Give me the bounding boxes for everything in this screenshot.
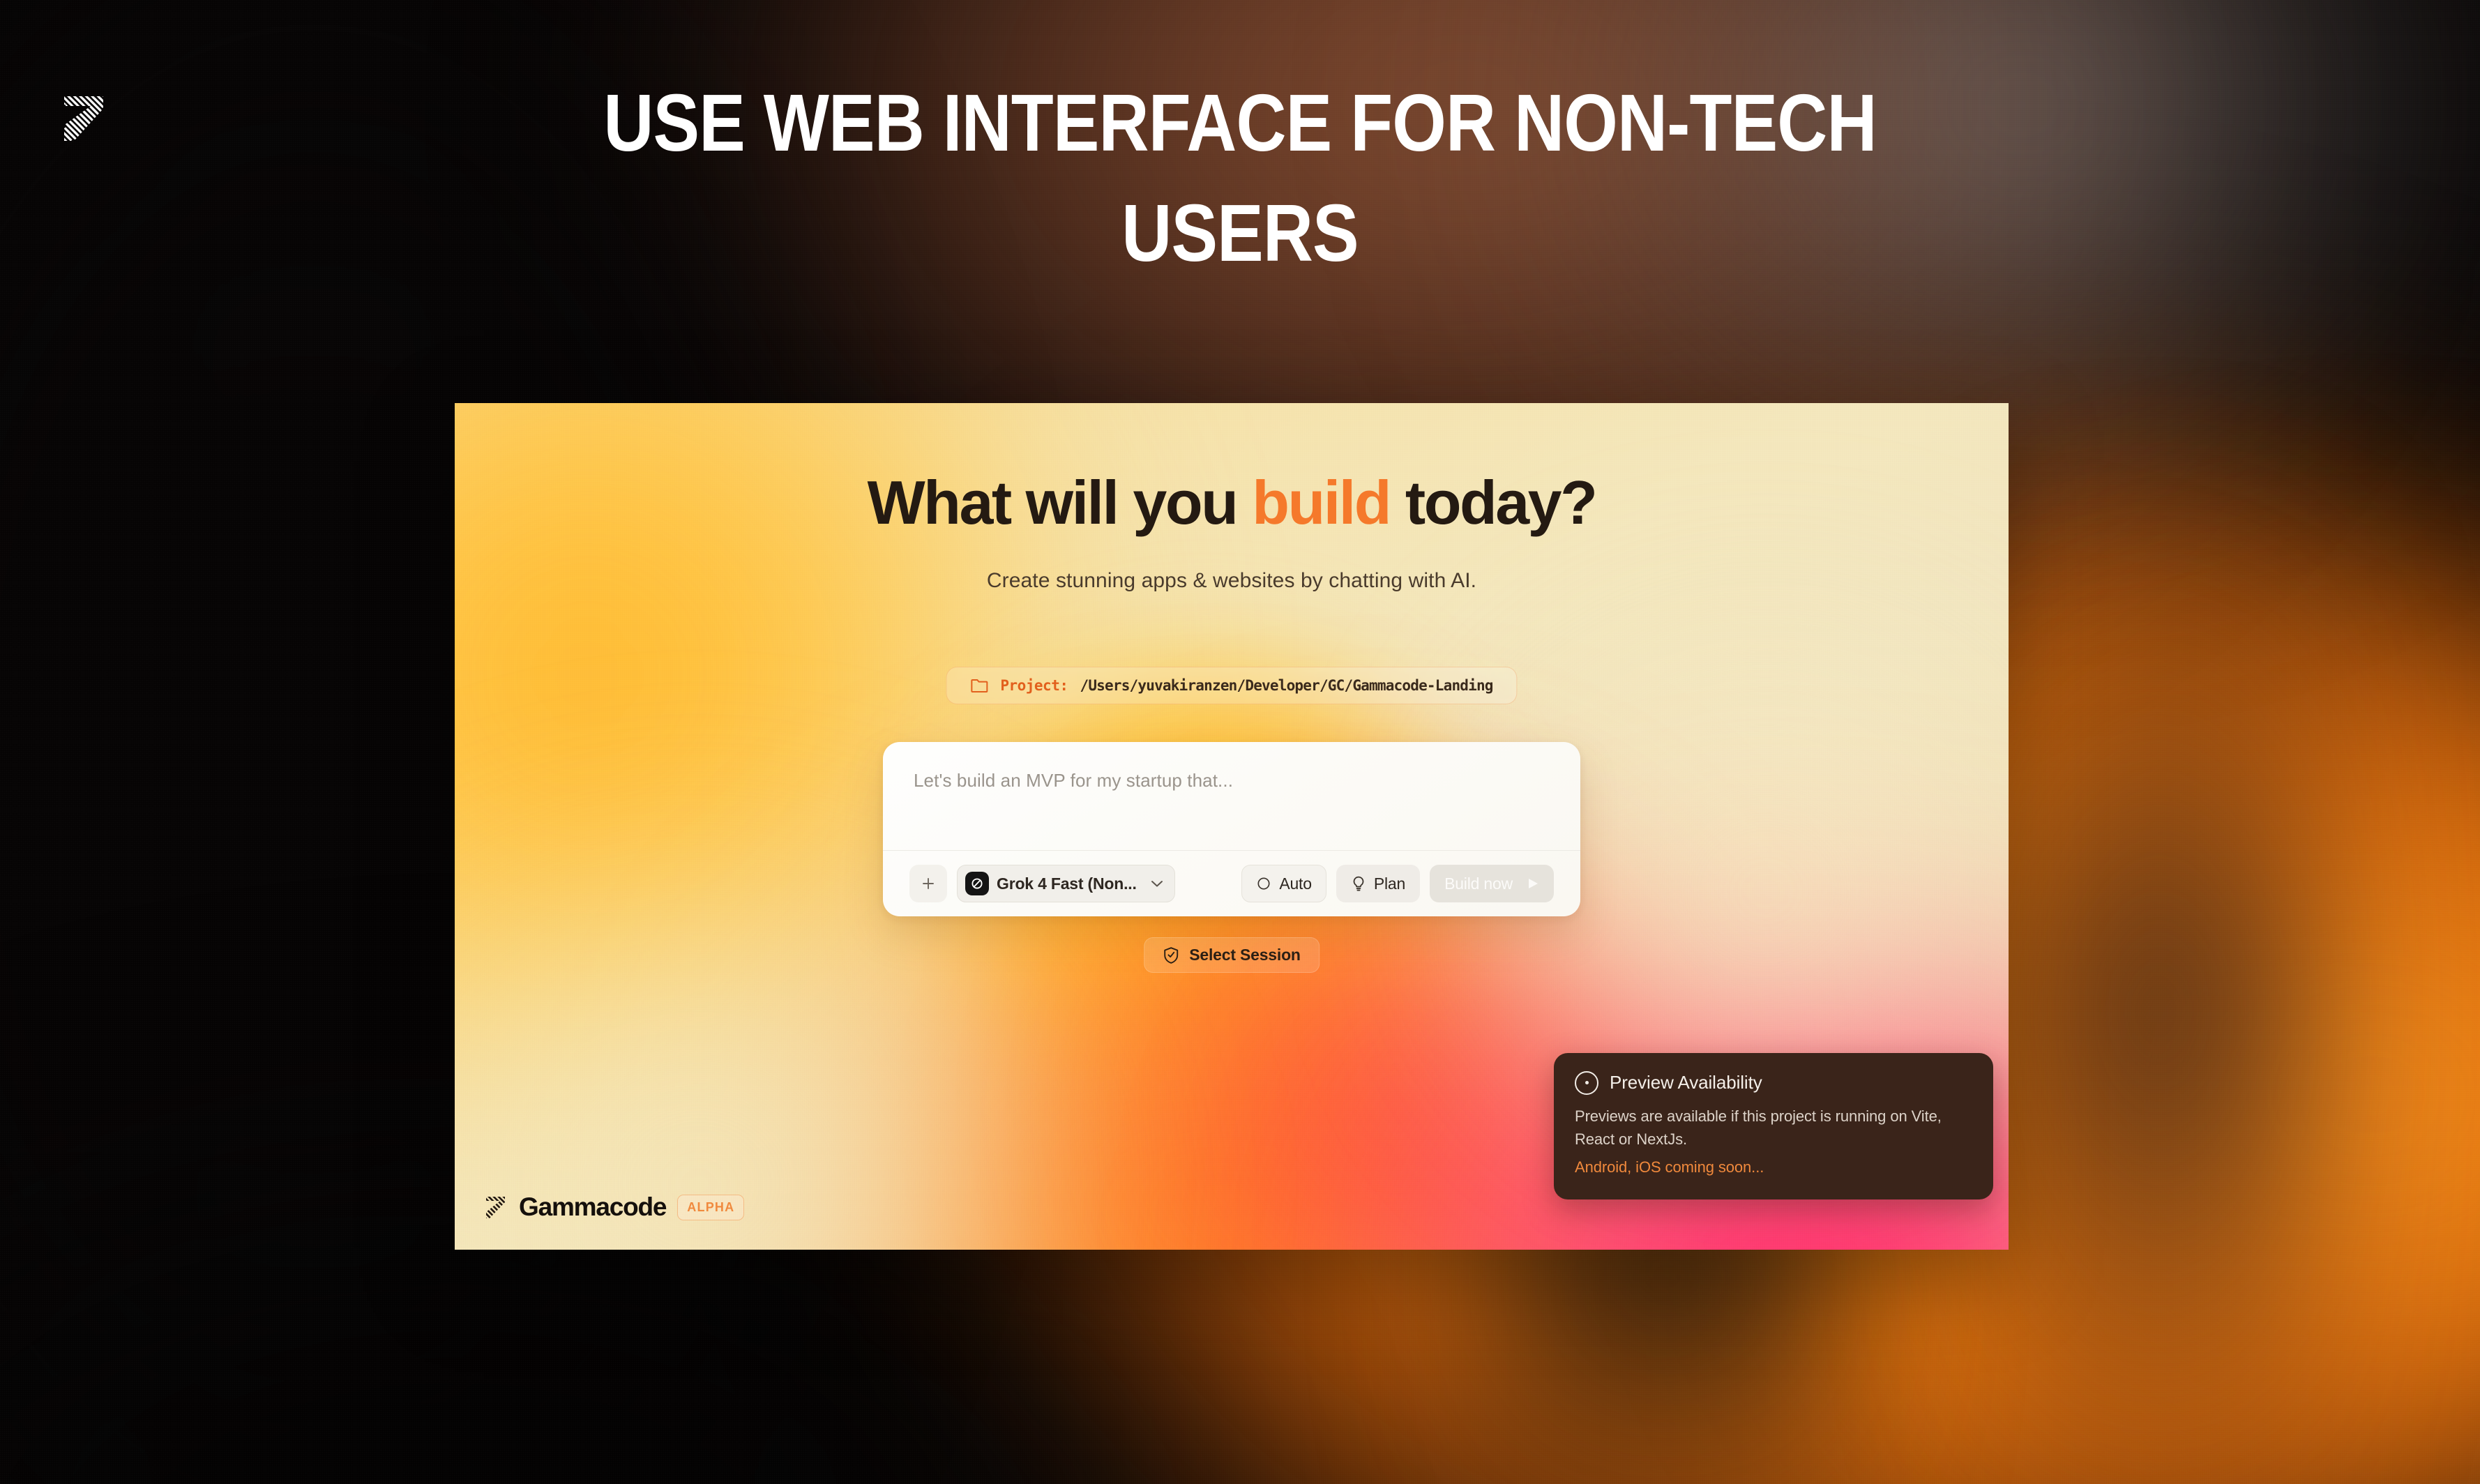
app-content: What will you build today? Create stunni… bbox=[455, 403, 2009, 1250]
model-name-label: Grok 4 Fast (Non... bbox=[997, 874, 1137, 893]
app-footer-brand-name: Gammacode bbox=[519, 1192, 666, 1222]
app-footer-brand: Gammacode ALPHA bbox=[484, 1192, 744, 1222]
preview-availability-toast: Preview Availability Previews are availa… bbox=[1554, 1053, 1993, 1199]
composer-toolbar: Grok 4 Fast (Non... Auto bbox=[883, 850, 1580, 916]
app-heading-accent: build bbox=[1252, 468, 1390, 537]
model-selector-dropdown[interactable]: Grok 4 Fast (Non... bbox=[957, 865, 1175, 902]
app-heading: What will you build today? bbox=[455, 467, 2009, 538]
toast-line-3: Android, iOS coming soon... bbox=[1575, 1156, 1972, 1179]
page-title: Use Web Interface For Non-Tech Users bbox=[403, 82, 2077, 303]
app-heading-suffix: today? bbox=[1390, 468, 1596, 537]
auto-mode-button[interactable]: Auto bbox=[1241, 865, 1326, 902]
alpha-badge: ALPHA bbox=[677, 1195, 744, 1220]
headline-line-2: Users bbox=[520, 192, 1960, 273]
headline-line-1: Use Web Interface For Non-Tech bbox=[520, 82, 1960, 163]
select-session-button[interactable]: Select Session bbox=[1144, 937, 1320, 973]
app-screenshot-window: What will you build today? Create stunni… bbox=[455, 403, 2009, 1250]
build-now-button[interactable]: Build now bbox=[1430, 865, 1554, 902]
plan-label: Plan bbox=[1374, 874, 1405, 893]
select-session-label: Select Session bbox=[1189, 946, 1301, 964]
plan-mode-button[interactable]: Plan bbox=[1336, 865, 1420, 902]
prompt-composer-card: Let's build an MVP for my startup that..… bbox=[883, 742, 1580, 916]
gammacode-slash-logo-icon bbox=[484, 1193, 508, 1221]
prompt-input[interactable]: Let's build an MVP for my startup that..… bbox=[883, 742, 1580, 850]
toast-title: Preview Availability bbox=[1610, 1072, 1762, 1093]
attach-button[interactable] bbox=[909, 865, 947, 902]
project-path: /Users/yuvakiranzen/Developer/GC/Gammaco… bbox=[1080, 677, 1493, 694]
toast-line-2: React or NextJs. bbox=[1575, 1128, 1972, 1151]
gammacode-slash-logo-icon bbox=[60, 89, 110, 148]
lightbulb-icon bbox=[1351, 875, 1366, 892]
circle-icon bbox=[1256, 876, 1271, 891]
project-path-pill[interactable]: Project: /Users/yuvakiranzen/Developer/G… bbox=[946, 667, 1517, 704]
play-triangle-icon bbox=[1527, 877, 1539, 890]
toast-header: Preview Availability bbox=[1575, 1071, 1972, 1095]
app-heading-prefix: What will you bbox=[868, 468, 1253, 537]
background-streak-right bbox=[2009, 488, 2308, 1484]
folder-icon bbox=[970, 677, 988, 694]
build-now-label: Build now bbox=[1444, 874, 1513, 893]
info-circle-icon bbox=[1575, 1071, 1598, 1095]
grok-icon bbox=[965, 872, 989, 895]
project-label: Project: bbox=[1000, 677, 1068, 694]
plus-icon bbox=[920, 875, 937, 892]
toast-line-1: Previews are available if this project i… bbox=[1575, 1105, 1972, 1128]
shield-check-icon bbox=[1163, 946, 1179, 964]
auto-label: Auto bbox=[1279, 874, 1312, 893]
app-subheading: Create stunning apps & websites by chatt… bbox=[455, 569, 2009, 593]
chevron-down-icon bbox=[1151, 879, 1163, 888]
